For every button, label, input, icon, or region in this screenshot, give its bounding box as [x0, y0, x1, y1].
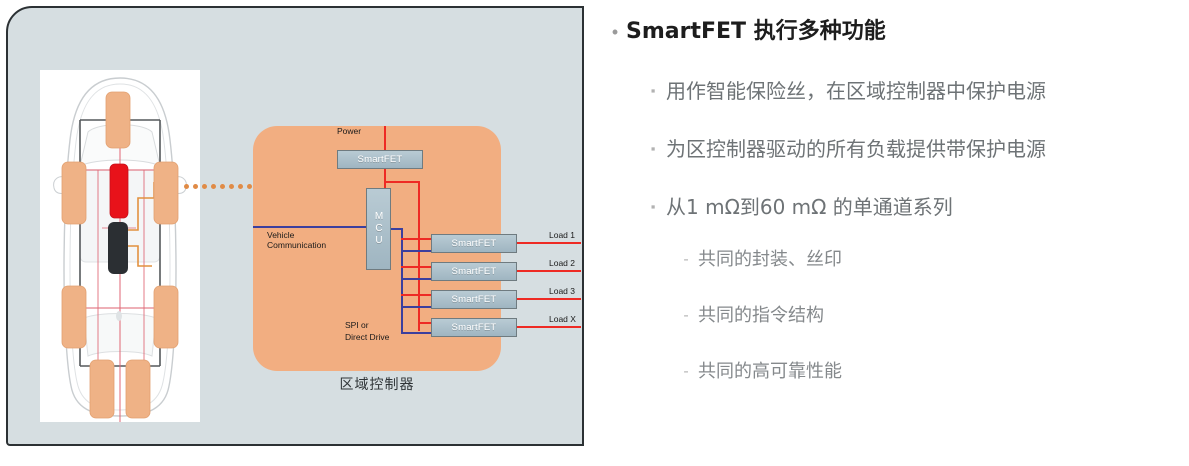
wire-load-2 — [515, 270, 581, 272]
smartfet-power-block: SmartFET — [337, 150, 423, 169]
bullet-level3-1-text: 共同的封装、丝印 — [698, 246, 842, 274]
wire-ch3-power — [401, 294, 433, 296]
bullet-dot-icon: • — [604, 18, 626, 46]
wire-ch1-power — [401, 238, 433, 240]
wire-ch2-control — [401, 278, 433, 280]
load-2-label: Load 2 — [549, 258, 575, 269]
wire-load-x — [515, 326, 581, 328]
heading-bullet: • SmartFET 执行多种功能 — [604, 18, 886, 46]
vehicle-communication-label-2: Communication — [267, 240, 326, 251]
bullet-level3-2: - 共同的指令结构 — [674, 302, 824, 330]
bullet-level3-2-text: 共同的指令结构 — [698, 302, 824, 330]
smartfet-channel-3: SmartFET — [431, 290, 517, 309]
wire-power-bus — [418, 181, 420, 331]
page-title: SmartFET 执行多种功能 — [626, 18, 886, 46]
bullet-dash-icon: - — [674, 302, 698, 330]
wire-ch3-control — [401, 306, 433, 308]
smartfet-channel-2: SmartFET — [431, 262, 517, 281]
block-diagram: Power SmartFET MCU Vehicle Communication — [253, 108, 584, 398]
bullet-level3-3: - 共同的高可靠性能 — [674, 358, 842, 386]
bullet-level2-2-text: 为区控制器驱动的所有负载提供带保护电源 — [666, 134, 1046, 164]
load-3-label: Load 3 — [549, 286, 575, 297]
load-1-label: Load 1 — [549, 230, 575, 241]
wire-ch1-control — [401, 250, 433, 252]
bullet-level2-1-text: 用作智能保险丝，在区域控制器中保护电源 — [666, 76, 1046, 106]
bullet-square-icon: ▪ — [640, 134, 666, 164]
zone-controller-caption: 区域控制器 — [253, 374, 501, 394]
bullet-level3-3-text: 共同的高可靠性能 — [698, 358, 842, 386]
bullet-level2-2: ▪ 为区控制器驱动的所有负载提供带保护电源 — [640, 134, 1046, 164]
vehicle-zone-diagram — [40, 70, 200, 422]
card-inner: Power SmartFET MCU Vehicle Communication — [8, 8, 582, 444]
bullet-level2-3: ▪ 从1 mΩ到60 mΩ 的单通道系列 — [640, 192, 953, 222]
wire-load-1 — [515, 242, 581, 244]
wire-ch2-power — [401, 266, 433, 268]
illustration-card: Power SmartFET MCU Vehicle Communication — [6, 6, 584, 446]
bullet-text-column: • SmartFET 执行多种功能 ▪ 用作智能保险丝，在区域控制器中保护电源 … — [604, 0, 1182, 466]
car-topview-svg — [40, 70, 200, 422]
wire-load-3 — [515, 298, 581, 300]
wire-power-branch — [384, 181, 420, 183]
spi-label-2: Direct Drive — [345, 332, 389, 343]
smartfet-channel-1: SmartFET — [431, 234, 517, 253]
load-x-label: Load X — [549, 314, 576, 325]
connector-dotted-line — [184, 184, 256, 190]
mcu-block: MCU — [366, 188, 391, 270]
spi-label-1: SPI or — [345, 320, 369, 331]
bullet-dash-icon: - — [674, 246, 698, 274]
smartfet-channel-x: SmartFET — [431, 318, 517, 337]
bullet-dash-icon: - — [674, 358, 698, 386]
bullet-level3-1: - 共同的封装、丝印 — [674, 246, 842, 274]
bullet-level2-3-text: 从1 mΩ到60 mΩ 的单通道系列 — [666, 192, 953, 222]
bullet-square-icon: ▪ — [640, 76, 666, 106]
bullet-square-icon: ▪ — [640, 192, 666, 222]
wire-power-in — [384, 126, 386, 152]
wire-chx-control — [401, 332, 433, 334]
slide-root: Power SmartFET MCU Vehicle Communication — [0, 0, 1189, 466]
power-label: Power — [337, 126, 361, 137]
wire-vehicle-communication — [253, 226, 366, 228]
bullet-level2-1: ▪ 用作智能保险丝，在区域控制器中保护电源 — [640, 76, 1046, 106]
wire-control-bus — [401, 228, 403, 332]
